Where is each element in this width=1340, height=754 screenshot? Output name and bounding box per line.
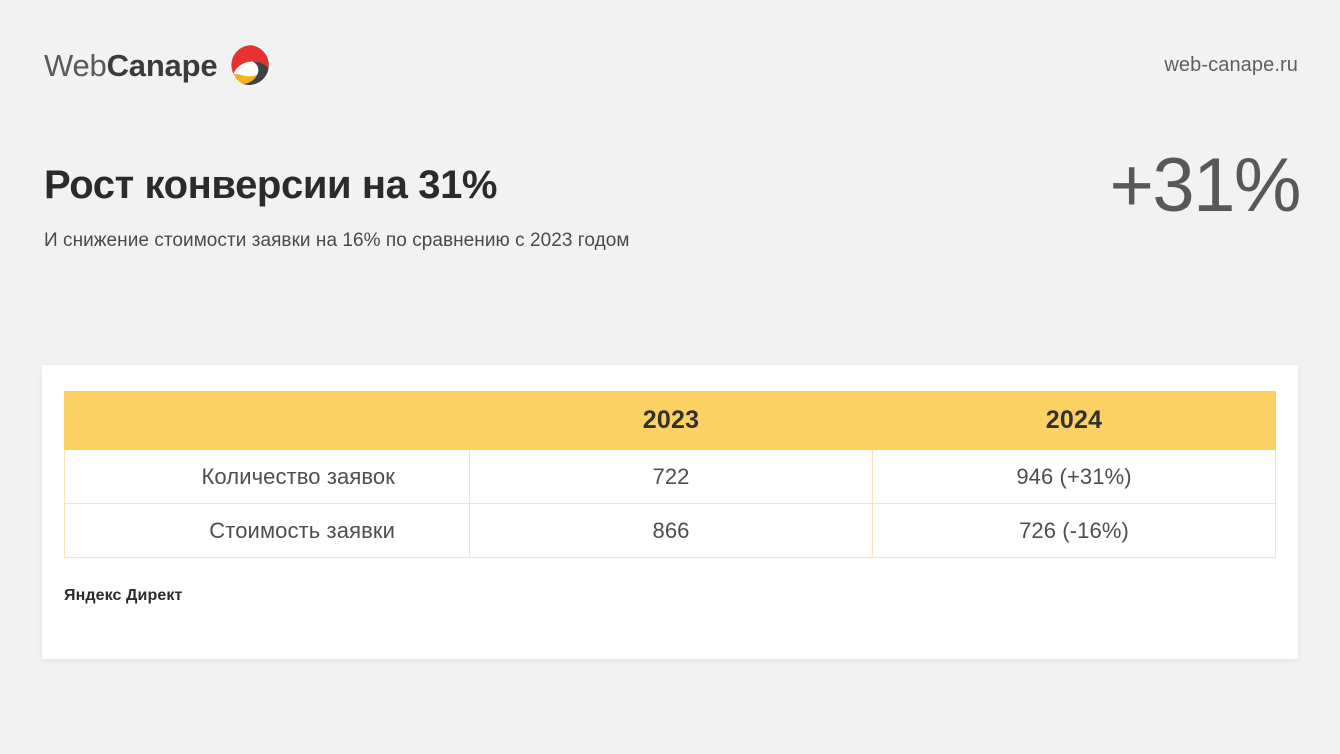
- logo-wordmark-bold: Canape: [107, 48, 218, 83]
- table-row: Стоимость заявки 866 726 (-16%): [65, 504, 1276, 558]
- row-label-leads-count: Количество заявок: [65, 450, 470, 504]
- webcanape-logo[interactable]: WebCanape: [44, 43, 273, 87]
- table-header-metric: [65, 392, 470, 450]
- page-header: WebCanape web-canape.ru: [44, 40, 1298, 90]
- table-row: Количество заявок 722 946 (+31%): [65, 450, 1276, 504]
- table-source-caption: Яндекс Директ: [64, 587, 182, 605]
- cell-lead-cost-2023: 866: [470, 504, 873, 558]
- cell-lead-cost-2024: 726 (-16%): [873, 504, 1276, 558]
- cell-leads-count-2023: 722: [470, 450, 873, 504]
- row-label-lead-cost: Стоимость заявки: [65, 504, 470, 558]
- logo-wordmark-light: Web: [44, 48, 107, 83]
- table-header-2024: 2024: [873, 392, 1276, 450]
- table-header-2023: 2023: [470, 392, 873, 450]
- title-block: Рост конверсии на 31% И снижение стоимос…: [44, 163, 864, 253]
- logo-wordmark: WebCanape: [44, 50, 217, 81]
- page-subtitle: И снижение стоимости заявки на 16% по ср…: [44, 229, 864, 254]
- metrics-card: 2023 2024 Количество заявок 722 946 (+31…: [42, 365, 1298, 659]
- table-header-row: 2023 2024: [65, 392, 1276, 450]
- webcanape-aperture-logo-icon: [229, 43, 273, 87]
- cell-leads-count-2024: 946 (+31%): [873, 450, 1276, 504]
- kpi-badge: +31%: [1110, 148, 1301, 224]
- page-title: Рост конверсии на 31%: [44, 163, 864, 208]
- metrics-table: 2023 2024 Количество заявок 722 946 (+31…: [64, 391, 1276, 558]
- site-url[interactable]: web-canape.ru: [1164, 54, 1298, 77]
